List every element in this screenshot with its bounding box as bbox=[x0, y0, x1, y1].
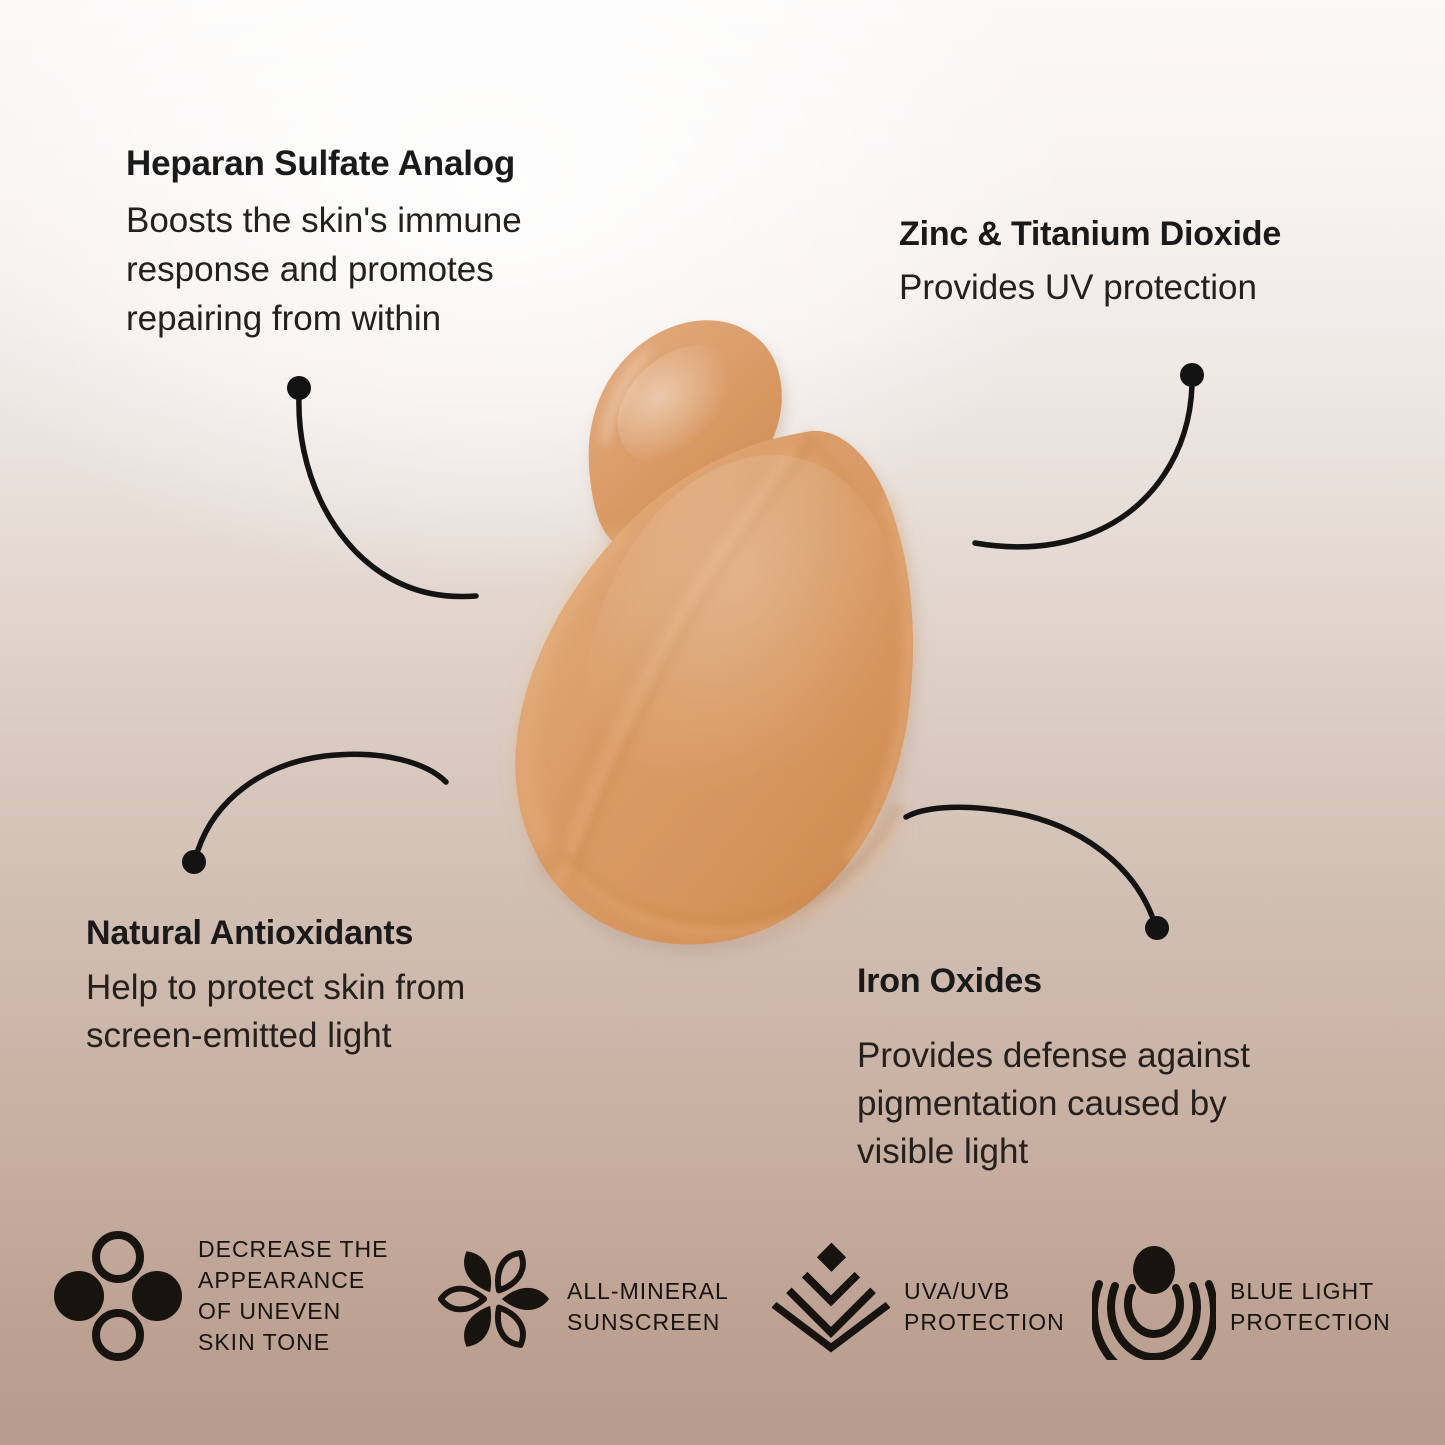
chevrons-down-icon bbox=[772, 1242, 890, 1356]
flower-petals-icon bbox=[435, 1240, 553, 1358]
badge-text-line: PROTECTION bbox=[1230, 1307, 1391, 1338]
four-dots-diamond-icon bbox=[52, 1230, 184, 1362]
badge-decrease-uneven-skin-tone: DECREASE THE APPEARANCE OF UNEVEN SKIN T… bbox=[52, 1230, 389, 1362]
callout-body-line: response and promotes bbox=[126, 245, 522, 294]
badge-text-line: OF UNEVEN bbox=[198, 1296, 389, 1327]
callout-title-antioxidants: Natural Antioxidants bbox=[86, 912, 465, 954]
callout-body-line: Provides defense against bbox=[857, 1032, 1250, 1080]
callout-body-line: visible light bbox=[857, 1128, 1250, 1176]
callout-body-line: repairing from within bbox=[126, 294, 522, 343]
callout-heparan-sulfate: Heparan Sulfate Analog Boosts the skin's… bbox=[126, 142, 522, 343]
callout-zinc-titanium-dioxide: Zinc & Titanium Dioxide Provides UV prot… bbox=[899, 213, 1281, 312]
callout-body-line: screen-emitted light bbox=[86, 1012, 465, 1060]
callout-body-zinc: Provides UV protection bbox=[899, 264, 1281, 312]
callout-iron-oxides: Iron Oxides Provides defense against pig… bbox=[857, 960, 1250, 1176]
callout-title-zinc: Zinc & Titanium Dioxide bbox=[899, 213, 1281, 256]
callout-natural-antioxidants: Natural Antioxidants Help to protect ski… bbox=[86, 912, 465, 1060]
callout-body-line: pigmentation caused by bbox=[857, 1080, 1250, 1128]
benefit-badges-strip: DECREASE THE APPEARANCE OF UNEVEN SKIN T… bbox=[0, 1222, 1445, 1412]
radiating-waves-icon bbox=[1092, 1242, 1216, 1360]
badge-text-line: DECREASE THE bbox=[198, 1234, 389, 1265]
badge-label-mineral: ALL-MINERAL SUNSCREEN bbox=[567, 1240, 729, 1338]
callout-body-line: Provides UV protection bbox=[899, 264, 1281, 312]
badge-blue-light-protection: BLUE LIGHT PROTECTION bbox=[1092, 1242, 1391, 1360]
badge-text-line: SUNSCREEN bbox=[567, 1307, 729, 1338]
badge-uva-uvb-protection: UVA/UVB PROTECTION bbox=[772, 1242, 1065, 1356]
callout-body-iron: Provides defense against pigmentation ca… bbox=[857, 1032, 1250, 1176]
callout-body-line: Boosts the skin's immune bbox=[126, 196, 522, 245]
callout-body-antioxidants: Help to protect skin from screen-emitted… bbox=[86, 964, 465, 1060]
badge-all-mineral-sunscreen: ALL-MINERAL SUNSCREEN bbox=[435, 1240, 729, 1358]
callout-title-iron: Iron Oxides bbox=[857, 960, 1250, 1002]
callout-body-line: Help to protect skin from bbox=[86, 964, 465, 1012]
badge-text-line: BLUE LIGHT bbox=[1230, 1276, 1391, 1307]
callout-body-heparan: Boosts the skin's immune response and pr… bbox=[126, 196, 522, 343]
badge-text-line: APPEARANCE bbox=[198, 1265, 389, 1296]
badge-text-line: UVA/UVB bbox=[904, 1276, 1065, 1307]
badge-text-line: ALL-MINERAL bbox=[567, 1276, 729, 1307]
badge-label-bluelight: BLUE LIGHT PROTECTION bbox=[1230, 1242, 1391, 1338]
ingredient-infographic: Heparan Sulfate Analog Boosts the skin's… bbox=[0, 0, 1445, 1445]
badge-label-uneven: DECREASE THE APPEARANCE OF UNEVEN SKIN T… bbox=[198, 1230, 389, 1358]
callout-title-heparan: Heparan Sulfate Analog bbox=[126, 142, 522, 186]
badge-text-line: PROTECTION bbox=[904, 1307, 1065, 1338]
badge-label-uva: UVA/UVB PROTECTION bbox=[904, 1242, 1065, 1338]
badge-text-line: SKIN TONE bbox=[198, 1327, 389, 1358]
